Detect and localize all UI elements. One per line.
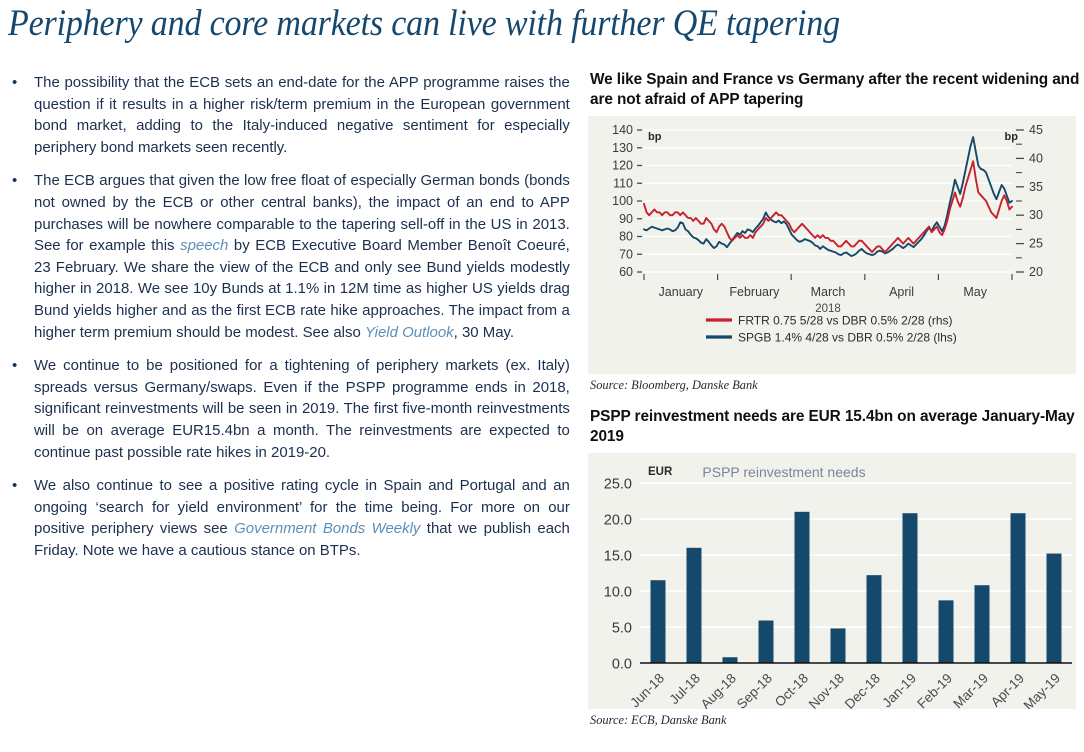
y2-tick-label: 20 (1029, 265, 1043, 279)
bullet-item: •The possibility that the ECB sets an en… (6, 72, 578, 158)
y-tick-label: 20.0 (604, 513, 632, 529)
bar-chart-heading: PSPP reinvestment needs are EUR 15.4bn o… (590, 407, 1080, 447)
bar (939, 600, 954, 663)
line-chart-svg: 60708090100110120130140 202530354045 bp … (588, 116, 1076, 374)
y-tick-label: 130 (612, 141, 633, 155)
bullet-marker: • (6, 72, 34, 94)
y2-tick-label: 45 (1029, 123, 1043, 137)
bar (903, 513, 918, 663)
y2-tick-label: 25 (1029, 237, 1043, 251)
bullet-item: •We also continue to see a positive rati… (6, 475, 578, 561)
bullet-marker: • (6, 475, 34, 497)
y-tick-label: 10.0 (604, 585, 632, 601)
article-body: •The possibility that the ECB sets an en… (6, 72, 578, 744)
bar (759, 621, 774, 663)
bullet-text: The ECB argues that given the low free f… (34, 170, 570, 343)
bar (651, 580, 666, 663)
y-tick-label: 100 (612, 194, 633, 208)
bullet-marker: • (6, 170, 34, 192)
y-tick-label: 0.0 (612, 657, 632, 673)
legend-label: FRTR 0.75 5/28 vs DBR 0.5% 2/28 (rhs) (738, 314, 953, 328)
text-run: , 30 May. (454, 324, 514, 341)
bullet-item: •We continue to be positioned for a tigh… (6, 355, 578, 463)
bullet-marker: • (6, 355, 34, 377)
bullet-item: •The ECB argues that given the low free … (6, 170, 578, 343)
x-tick-label: April (889, 285, 914, 299)
y-tick-label: 110 (613, 176, 633, 190)
bar (867, 575, 882, 663)
x-tick-label: May (963, 285, 987, 299)
y-tick-label: 25.0 (604, 477, 632, 493)
y-tick-label: 15.0 (604, 549, 632, 565)
inline-link[interactable]: speech (180, 237, 228, 254)
bar-chart-panel: 0.05.010.015.020.025.0 EUR PSPP reinvest… (588, 453, 1076, 709)
y-tick-label: 80 (619, 230, 633, 244)
y-tick-label: 70 (619, 247, 633, 261)
bullet-text: The possibility that the ECB sets an end… (34, 72, 570, 158)
x-tick-label: January (659, 285, 704, 299)
bar (975, 585, 990, 663)
y-tick-label: 140 (612, 123, 633, 137)
bar (687, 548, 702, 663)
line-chart-panel: 60708090100110120130140 202530354045 bp … (588, 116, 1076, 374)
inline-link[interactable]: Government Bonds Weekly (234, 520, 420, 537)
inline-link[interactable]: Yield Outlook (365, 324, 454, 341)
page-title: Periphery and core markets can live with… (8, 2, 983, 48)
bar (831, 628, 846, 663)
y2-tick-label: 30 (1029, 208, 1043, 222)
bar (795, 512, 810, 663)
y2-tick-label: 35 (1029, 180, 1043, 194)
bar-chart-svg: 0.05.010.015.020.025.0 EUR PSPP reinvest… (588, 453, 1076, 709)
bar (1047, 554, 1062, 663)
line-chart-source: Source: Bloomberg, Danske Bank (590, 378, 1080, 393)
bar-chart-source: Source: ECB, Danske Bank (590, 713, 1080, 728)
text-run: We continue to be positioned for a tight… (34, 357, 570, 460)
bar (1011, 513, 1026, 663)
bar (723, 657, 738, 663)
line-chart-right-unit: bp (1005, 131, 1019, 143)
y-tick-label: 90 (619, 212, 633, 226)
y-tick-label: 60 (619, 265, 633, 279)
bullet-text: We continue to be positioned for a tight… (34, 355, 570, 463)
line-chart-heading: We like Spain and France vs Germany afte… (590, 70, 1080, 110)
x-tick-label: March (811, 285, 846, 299)
bar-chart-unit: EUR (648, 466, 673, 478)
charts-column: We like Spain and France vs Germany afte… (588, 70, 1080, 750)
bar-chart-title: PSPP reinvestment needs (702, 464, 865, 480)
y-tick-label: 120 (612, 159, 633, 173)
y2-tick-label: 40 (1029, 151, 1043, 165)
line-chart-left-unit: bp (648, 131, 662, 143)
bullet-text: We also continue to see a positive ratin… (34, 475, 570, 561)
x-tick-label: February (729, 285, 780, 299)
text-run: The possibility that the ECB sets an end… (34, 74, 570, 156)
legend-label: SPGB 1.4% 4/28 vs DBR 0.5% 2/28 (lhs) (738, 331, 957, 345)
y-tick-label: 5.0 (612, 621, 632, 637)
